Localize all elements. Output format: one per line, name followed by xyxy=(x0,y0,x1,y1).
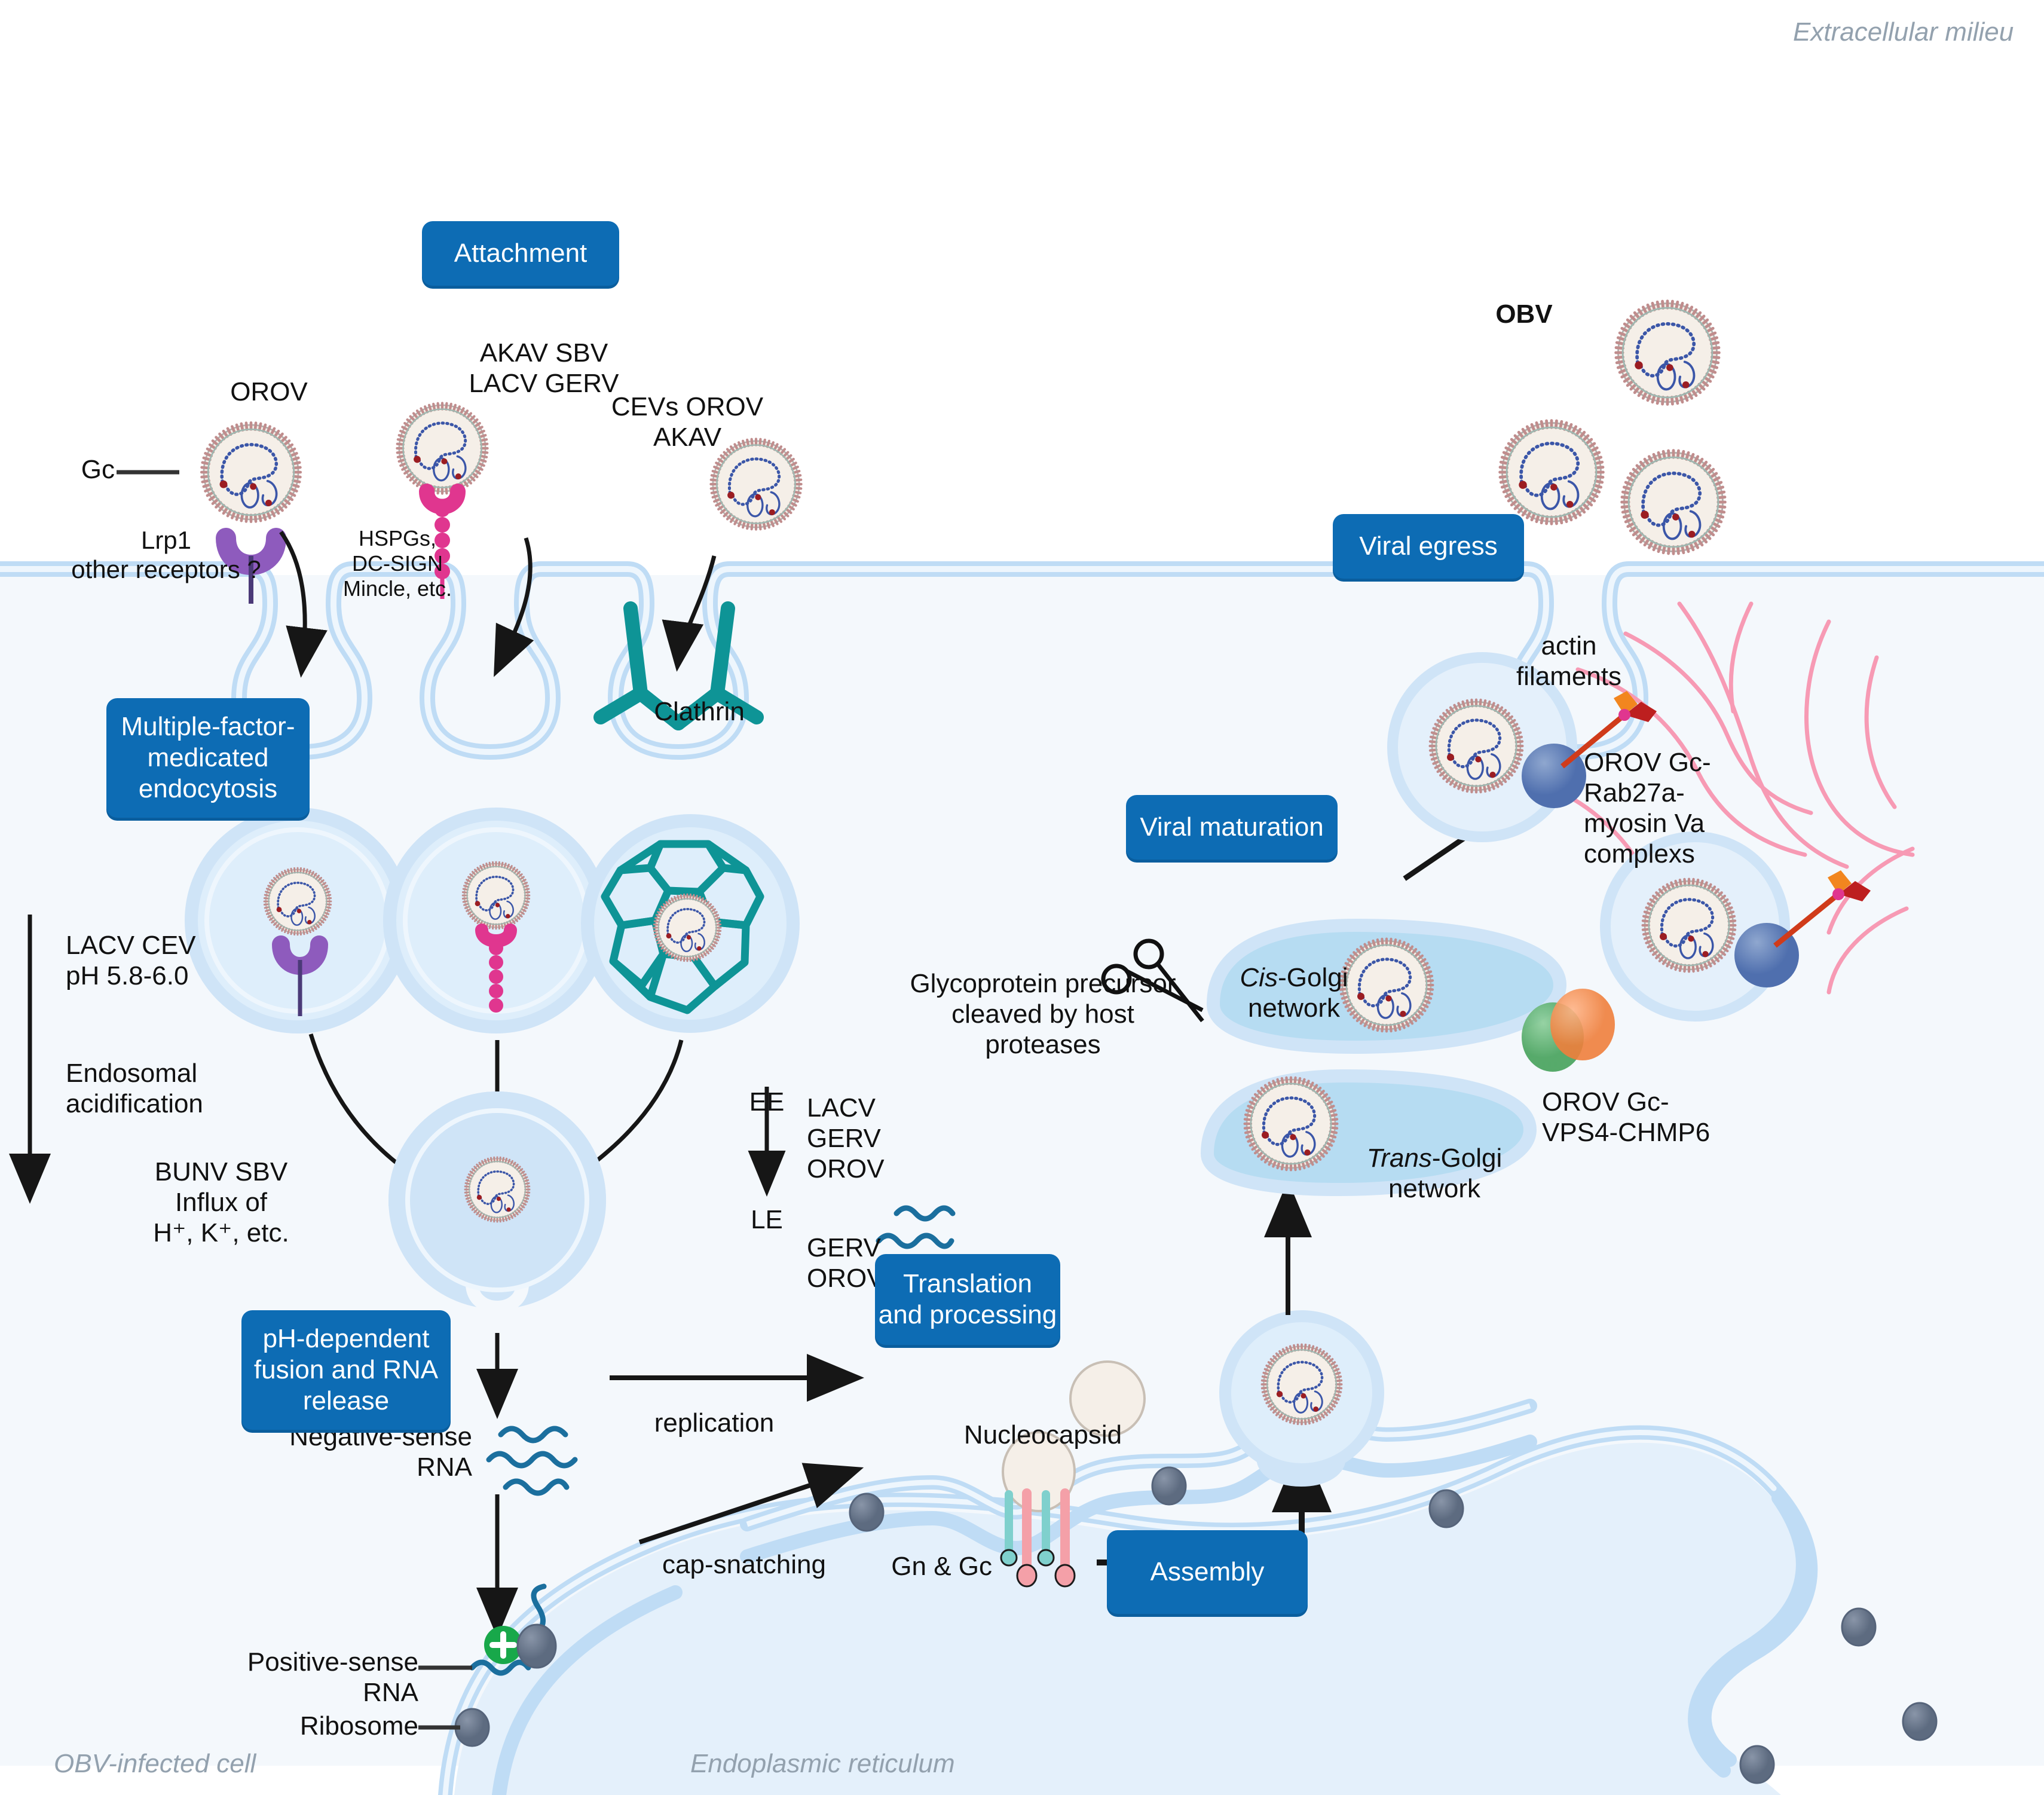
cevs-orov-akav-label: CEVs OROV AKAV xyxy=(611,392,763,452)
akav-sbv-lacv-gerv-label: AKAV SBV LACV GERV xyxy=(469,338,619,399)
badge-attachment[interactable]: Attachment xyxy=(422,221,619,286)
figure-canvas: Extracellular milieu OBV-infected cell E… xyxy=(0,0,2044,1795)
er-label: Endoplasmic reticulum xyxy=(690,1748,955,1779)
badge-maturation[interactable]: Viral maturation xyxy=(1126,795,1338,860)
virion-akav-sbv xyxy=(397,403,487,493)
negative-sense-rna-label: Negative-sense RNA xyxy=(289,1421,472,1482)
actin-filaments-label: actin filaments xyxy=(1516,631,1621,692)
glycoprotein-cleavage-label: Glycoprotein precursor cleaved by host p… xyxy=(910,968,1176,1060)
virion-cevs xyxy=(711,439,801,529)
virion-orov-attachment xyxy=(201,423,301,522)
cis-golgi-italic: Cis xyxy=(1240,963,1278,992)
ee-label: EE xyxy=(749,1087,785,1117)
le-viruses-label: GERV OROV xyxy=(807,1233,885,1293)
badge-endocytosis[interactable]: Multiple-factor- medicated endocytosis xyxy=(106,698,310,818)
extracellular-milieu-label: Extracellular milieu xyxy=(1793,17,2014,47)
ribosome-legend-dot xyxy=(455,1709,489,1746)
le-label: LE xyxy=(751,1204,783,1235)
positive-sense-rna-label: Positive-sense RNA xyxy=(247,1647,418,1708)
ee-viruses-label: LACV GERV OROV xyxy=(807,1093,885,1184)
gc-label: Gc xyxy=(81,454,115,485)
cell-label: OBV-infected cell xyxy=(54,1748,256,1779)
lrp1-label: Lrp1 other receptors ? xyxy=(71,526,261,584)
diagram-svg xyxy=(0,0,2044,1795)
badge-translation[interactable]: Translation and processing xyxy=(875,1254,1060,1345)
bunv-sbv-influx-label: BUNV SBV Influx of H⁺, K⁺, etc. xyxy=(153,1157,289,1248)
badge-assembly[interactable]: Assembly xyxy=(1107,1530,1308,1614)
late-endosome-fusion xyxy=(394,1097,600,1307)
endosome-hspg xyxy=(390,814,602,1027)
cis-golgi-label: Cis-Golgi network xyxy=(1240,962,1348,1023)
gn-gc-label: Gn & Gc xyxy=(891,1551,992,1582)
lacv-cev-ph-label: LACV CEV pH 5.8-6.0 xyxy=(66,930,196,991)
released-virion-1 xyxy=(1616,301,1719,405)
released-virion-2 xyxy=(1500,421,1604,524)
trans-golgi-italic: Trans xyxy=(1367,1143,1432,1173)
trans-golgi-label: Trans-Golgi network xyxy=(1367,1143,1503,1204)
clathrin-coated-vesicle xyxy=(588,821,793,1026)
ribosome-label: Ribosome xyxy=(300,1711,418,1741)
released-virion-3 xyxy=(1622,451,1725,554)
obv-label: OBV xyxy=(1495,299,1552,329)
nucleocapsid-label: Nucleocapsid xyxy=(964,1420,1122,1450)
replication-label: replication xyxy=(654,1408,775,1438)
badge-fusion[interactable]: pH-dependent fusion and RNA release xyxy=(241,1310,451,1430)
clathrin-label: Clathrin xyxy=(654,696,745,727)
orov-gc-rab27a-label: OROV Gc- Rab27a- myosin Va complexs xyxy=(1584,747,1711,869)
cap-snatching-label: cap-snatching xyxy=(662,1549,826,1580)
orov-gc-vps4-label: OROV Gc- VPS4-CHMP6 xyxy=(1542,1087,1710,1148)
hspgs-label: HSPGs, DC-SIGN Mincle, etc. xyxy=(343,526,452,601)
endosome-lrp1 xyxy=(191,814,404,1027)
orov-label: OROV xyxy=(230,377,308,407)
endosomal-acidification-label: Endosomal acidification xyxy=(66,1058,203,1119)
badge-egress[interactable]: Viral egress xyxy=(1333,514,1524,579)
